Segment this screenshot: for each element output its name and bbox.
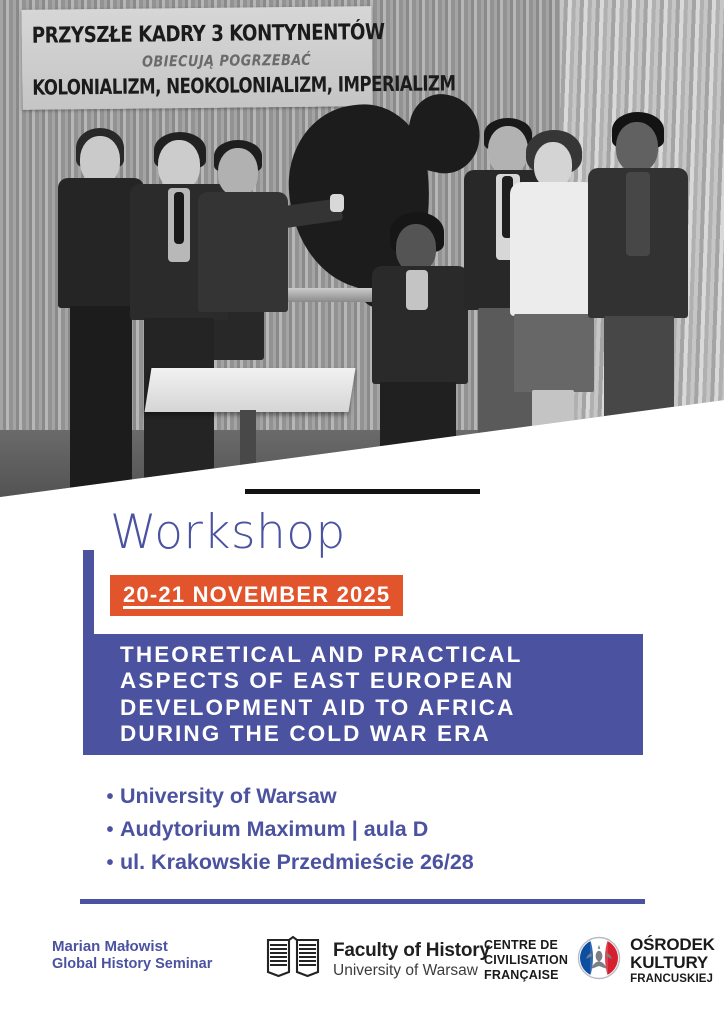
table-leg	[240, 410, 256, 470]
bullet-icon: •	[100, 816, 120, 846]
person-7	[588, 112, 692, 500]
person-3-cuff	[330, 194, 344, 212]
title-block: THEORETICAL AND PRACTICAL ASPECTS OF EAS…	[94, 634, 643, 755]
bullet-icon: •	[100, 849, 120, 879]
ccf-pl-line-2: KULTURY	[630, 954, 715, 972]
logo-faculty-of-history: Faculty of History University of Warsaw	[264, 935, 490, 984]
person-4-head	[396, 224, 436, 272]
bullet-icon: •	[100, 783, 120, 813]
person-6	[508, 130, 600, 500]
black-divider-rule	[245, 489, 480, 494]
date-badge: 20-21 NOVEMBER 2025	[110, 575, 403, 616]
ccf-line-3: FRANÇAISE	[484, 968, 568, 983]
person-4	[372, 212, 476, 500]
ccf-pl-line-3: FRANCUSKIEJ	[630, 973, 715, 985]
person-6-skirt	[514, 314, 594, 392]
banner-line-1: PRZYSZŁE KADRY 3 KONTYNENTÓW	[32, 20, 345, 48]
photo-image: PRZYSZŁE KADRY 3 KONTYNENTÓW OBIECUJĄ PO…	[0, 0, 724, 500]
seminar-name-line-1: Marian Małowist	[52, 938, 212, 956]
list-item: • Audytorium Maximum | aula D	[100, 813, 660, 846]
ccf-pl-line-1: OŚRODEK	[630, 936, 715, 954]
footer-logos: Marian Małowist Global History Seminar	[0, 925, 724, 997]
person-7-shirt	[626, 172, 650, 256]
person-3	[198, 140, 314, 360]
person-2-tie	[174, 192, 184, 244]
ccf-polish-name: OŚRODEK KULTURY FRANCUSKIEJ	[630, 936, 715, 985]
header-photo: PRZYSZŁE KADRY 3 KONTYNENTÓW OBIECUJĄ PO…	[0, 0, 724, 500]
person-3-head	[218, 148, 258, 196]
banner-line-3: KOLONIALIZM, NEOKOLONIALIZM, IMPERIALIZM	[32, 73, 331, 100]
faculty-university: University of Warsaw	[333, 962, 490, 980]
seminar-name-line-2: Global History Seminar	[52, 956, 212, 974]
person-2-head	[158, 140, 200, 190]
venue-line-1: University of Warsaw	[120, 780, 337, 812]
date-badge-label: 20-21 NOVEMBER 2025	[123, 582, 390, 607]
banner-line-2: OBIECUJĄ POGRZEBAĆ	[142, 49, 465, 70]
list-item: • ul. Krakowskie Przedmieście 26/28	[100, 846, 660, 879]
venue-list: • University of Warsaw • Audytorium Maxi…	[100, 780, 660, 878]
person-4-shirt	[406, 270, 428, 310]
person-1-legs	[70, 306, 132, 500]
person-7-head	[616, 122, 658, 172]
ccf-french-name: CENTRE DE CIVILISATION FRANÇAISE	[484, 938, 568, 983]
french-republic-emblem-icon	[577, 936, 621, 985]
list-item: • University of Warsaw	[100, 780, 660, 813]
person-7-legs	[604, 316, 674, 500]
faculty-logotype: Faculty of History University of Warsaw	[333, 940, 490, 980]
accent-vertical-bar	[83, 550, 94, 755]
logo-french-culture-centre: CENTRE DE CIVILISATION FRANÇAISE	[484, 936, 715, 985]
ccf-line-1: CENTRE DE	[484, 938, 568, 953]
venue-line-3: ul. Krakowskie Przedmieście 26/28	[120, 846, 474, 878]
venue-line-2: Audytorium Maximum | aula D	[120, 813, 428, 845]
ccf-line-2: CIVILISATION	[484, 953, 568, 968]
open-book-icon	[264, 935, 322, 984]
logo-malowist-seminar: Marian Małowist Global History Seminar	[52, 938, 212, 974]
white-table	[145, 368, 356, 412]
protest-banner: PRZYSZŁE KADRY 3 KONTYNENTÓW OBIECUJĄ PO…	[21, 6, 372, 110]
person-4-legs	[380, 382, 456, 500]
kicker-workshop: Workshop	[110, 509, 346, 556]
person-1-head	[80, 136, 120, 184]
person-6-top	[510, 182, 596, 316]
poster-root: PRZYSZŁE KADRY 3 KONTYNENTÓW OBIECUJĄ PO…	[0, 0, 724, 1024]
person-6-legs	[532, 390, 574, 500]
blue-divider-rule	[80, 899, 645, 904]
faculty-name: Faculty of History	[333, 940, 490, 962]
page-title: THEORETICAL AND PRACTICAL ASPECTS OF EAS…	[120, 642, 523, 746]
